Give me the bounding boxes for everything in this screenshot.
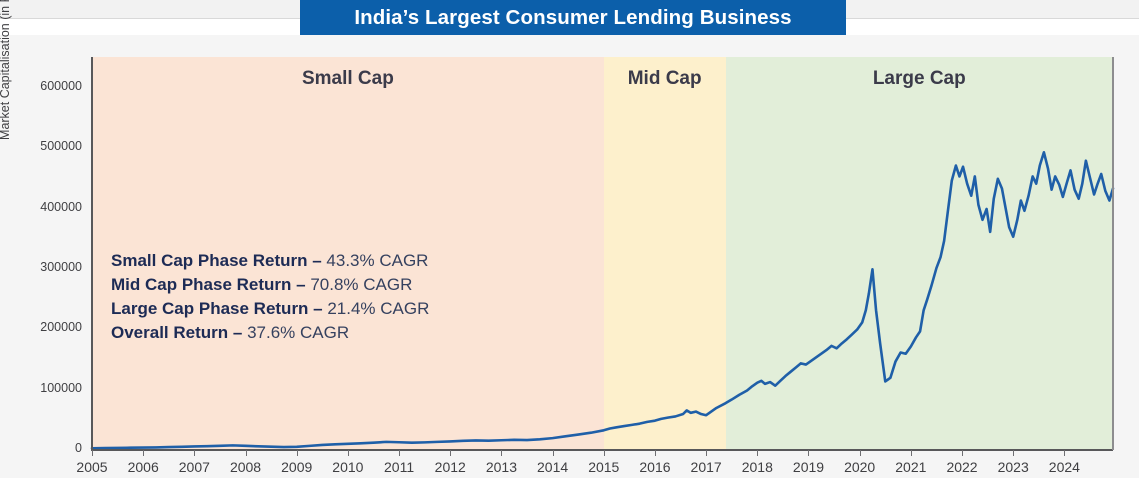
x-tick-label: 2009 (281, 459, 312, 475)
chart-plot-area: Small Cap Mid Cap Large Cap 010000020000… (0, 35, 1139, 478)
x-tick-label: 2014 (537, 459, 568, 475)
annotation-label: Mid Cap Phase Return – (111, 275, 310, 294)
y-tick-label: 0 (75, 441, 82, 455)
x-tick-mark (297, 450, 298, 456)
x-tick-mark (501, 450, 502, 456)
annotation-value: 70.8% CAGR (310, 275, 412, 294)
annotation-value: 21.4% CAGR (327, 299, 429, 318)
x-tick-label: 2022 (946, 459, 977, 475)
x-tick-mark (604, 450, 605, 456)
x-tick-mark (450, 450, 451, 456)
annotation-value: 43.3% CAGR (326, 251, 428, 270)
x-tick-mark (194, 450, 195, 456)
y-tick-label: 100000 (40, 381, 82, 395)
chart-page: India’s Largest Consumer Lending Busines… (0, 0, 1139, 478)
x-tick-label: 2013 (486, 459, 517, 475)
x-tick-label: 2015 (588, 459, 619, 475)
x-tick-mark (246, 450, 247, 456)
x-tick-label: 2010 (332, 459, 363, 475)
x-axis-line (91, 449, 1113, 451)
x-tick-label: 2023 (998, 459, 1029, 475)
x-tick-mark (1013, 450, 1014, 456)
y-axis-line (91, 57, 93, 450)
x-tick-mark (962, 450, 963, 456)
y-tick-label: 400000 (40, 200, 82, 214)
x-tick-label: 2008 (230, 459, 261, 475)
y-tick-label: 200000 (40, 320, 82, 334)
x-tick-mark (655, 450, 656, 456)
x-tick-label: 2016 (639, 459, 670, 475)
x-tick-mark (757, 450, 758, 456)
annotation-label: Small Cap Phase Return – (111, 251, 326, 270)
annotation-value: 37.6% CAGR (247, 323, 349, 342)
annotation-label: Overall Return – (111, 323, 247, 342)
x-tick-label: 2017 (691, 459, 722, 475)
x-tick-mark (553, 450, 554, 456)
x-tick-label: 2007 (179, 459, 210, 475)
right-axis-line (1112, 57, 1114, 450)
y-tick-label: 300000 (40, 260, 82, 274)
x-tick-mark (143, 450, 144, 456)
x-tick-mark (92, 450, 93, 456)
x-tick-label: 2011 (384, 459, 414, 475)
x-tick-label: 2005 (76, 459, 107, 475)
x-tick-mark (1064, 450, 1065, 456)
y-tick-label: 500000 (40, 139, 82, 153)
annotation-label: Large Cap Phase Return – (111, 299, 327, 318)
x-tick-mark (808, 450, 809, 456)
chart-title-banner: India’s Largest Consumer Lending Busines… (300, 0, 846, 35)
annotation-row: Large Cap Phase Return – 21.4% CAGR (111, 297, 429, 321)
page-edge-strip (845, 9, 1139, 19)
x-tick-label: 2024 (1049, 459, 1080, 475)
x-tick-label: 2020 (844, 459, 875, 475)
annotation-row: Overall Return – 37.6% CAGR (111, 321, 429, 345)
x-tick-mark (860, 450, 861, 456)
x-tick-mark (706, 450, 707, 456)
x-tick-mark (911, 450, 912, 456)
x-tick-mark (399, 450, 400, 456)
annotation-row: Small Cap Phase Return – 43.3% CAGR (111, 249, 429, 273)
x-tick-label: 2021 (895, 459, 926, 475)
y-tick-label: 600000 (40, 79, 82, 93)
x-tick-label: 2006 (128, 459, 159, 475)
x-tick-label: 2018 (742, 459, 773, 475)
x-tick-label: 2019 (793, 459, 824, 475)
returns-annotation-block: Small Cap Phase Return – 43.3% CAGRMid C… (111, 249, 429, 346)
annotation-row: Mid Cap Phase Return – 70.8% CAGR (111, 273, 429, 297)
page-edge-strip (0, 9, 300, 19)
y-axis-title: Market Capitalisation (in Rs. Cr.) (0, 0, 12, 165)
x-tick-label: 2012 (435, 459, 466, 475)
x-tick-mark (348, 450, 349, 456)
